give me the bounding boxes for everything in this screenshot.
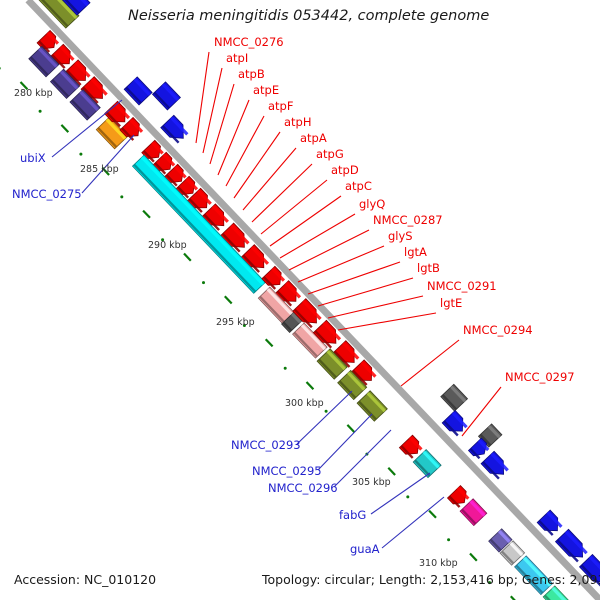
feature-blue-6[interactable] [442, 411, 466, 436]
scale-tick-major [184, 254, 191, 261]
scale-tick-major [61, 125, 68, 132]
scale-tick-major [429, 511, 436, 518]
leader-line-atpa [243, 148, 296, 210]
scale-label-310-kbp: 310 kbp [419, 558, 458, 569]
scale-label-285-kbp: 285 kbp [80, 164, 119, 175]
gene-label-nmcc_0297[interactable]: NMCC_0297 [505, 370, 575, 384]
gene-label-atpd[interactable]: atpD [331, 163, 359, 177]
gene-label-nmcc_0293[interactable]: NMCC_0293 [231, 438, 301, 452]
gene-label-nmcc_0295[interactable]: NMCC_0295 [252, 464, 322, 478]
scale-tick-minor [39, 110, 42, 113]
feature-purple-1[interactable] [29, 46, 59, 76]
gene-label-glys[interactable]: glyS [388, 229, 413, 243]
leader-line-lgte [338, 313, 436, 330]
gene-label-lgtb[interactable]: lgtB [417, 261, 440, 275]
gene-label-atpi[interactable]: atpI [226, 51, 248, 65]
gene-label-nmcc_0276[interactable]: NMCC_0276 [214, 35, 284, 49]
leader-line-nmcc_0276 [196, 52, 209, 143]
gene-label-nmcc_0275[interactable]: NMCC_0275 [12, 187, 82, 201]
leader-line-atpd [261, 180, 327, 234]
gene-label-atpb[interactable]: atpB [238, 67, 265, 81]
gene-label-atpe[interactable]: atpE [253, 83, 279, 97]
feature-olive-4[interactable] [357, 391, 387, 421]
gene-label-fabg[interactable]: fabG [339, 508, 366, 522]
scale-tick-major [307, 382, 314, 389]
gene-label-atpc[interactable]: atpC [345, 179, 372, 193]
page-title: Neisseria meningitidis 053442, complete … [128, 8, 489, 24]
leader-line-atpc [270, 196, 341, 246]
leader-line-atpe [218, 100, 249, 175]
scale-tick-minor [202, 281, 205, 284]
scale-tick-minor [406, 495, 409, 498]
scale-label-layer: 280 kbp285 kbp290 kbp295 kbp300 kbp305 k… [14, 88, 458, 569]
scale-label-280-kbp: 280 kbp [14, 88, 53, 99]
leader-line-atpi [203, 68, 222, 153]
feature-blue-4[interactable] [153, 82, 181, 110]
gene-label-atpa[interactable]: atpA [300, 131, 327, 145]
gene-label-nmcc_0296[interactable]: NMCC_0296 [268, 481, 338, 495]
accession-text: Accession: NC_010120 [14, 572, 156, 587]
scale-tick-major [511, 596, 518, 600]
leader-line-nmcc_0295 [318, 414, 372, 470]
gene-label-atpf[interactable]: atpF [268, 99, 293, 113]
leader-line-glyq [280, 214, 355, 258]
gene-label-atpg[interactable]: atpG [316, 147, 344, 161]
gene-label-nmcc_0294[interactable]: NMCC_0294 [463, 323, 533, 337]
scale-label-305-kbp: 305 kbp [352, 477, 391, 488]
leader-line-atpg [252, 164, 312, 222]
scale-tick-minor [120, 195, 123, 198]
feature-red-21[interactable] [399, 435, 421, 458]
scale-tick-minor [447, 538, 450, 541]
genome-axis-line [28, 0, 600, 600]
genome-map-viewer: NMCC_0276atpIatpBatpEatpFatpHatpAatpGatp… [0, 0, 600, 600]
gene-label-lgte[interactable]: lgtE [440, 296, 462, 310]
scale-tick-major [470, 554, 477, 561]
gene-label-glyq[interactable]: glyQ [359, 197, 385, 211]
scale-tick-minor [325, 410, 328, 413]
feature-red-22[interactable] [448, 486, 469, 508]
gene-label-ubix[interactable]: ubiX [20, 151, 46, 165]
feature-green-1[interactable] [543, 586, 581, 600]
gene-label-guaa[interactable]: guaA [350, 542, 380, 556]
scale-label-295-kbp: 295 kbp [216, 317, 255, 328]
gene-label-nmcc_0287[interactable]: NMCC_0287 [373, 213, 443, 227]
scale-tick-minor [284, 367, 287, 370]
leader-line-atpb [210, 84, 234, 164]
scale-tick-major [266, 339, 273, 346]
feature-gray-3[interactable] [441, 384, 468, 411]
scale-tick-minor [79, 153, 82, 156]
leader-line-nmcc_0287 [289, 230, 369, 270]
leader-line-lgta [308, 262, 400, 294]
scale-label-300-kbp: 300 kbp [285, 398, 324, 409]
scale-tick-major [143, 211, 150, 218]
gene-label-atph[interactable]: atpH [284, 115, 312, 129]
genome-axis-group [28, 0, 600, 600]
scale-label-290-kbp: 290 kbp [148, 240, 187, 251]
scale-tick-major [225, 296, 232, 303]
gene-label-lgta[interactable]: lgtA [404, 245, 427, 259]
feature-blue-9[interactable] [537, 510, 561, 535]
scale-tick-major [388, 468, 395, 475]
leader-line-glys [298, 246, 384, 282]
scale-tick-minor [0, 67, 1, 70]
leader-line-guaa [382, 497, 444, 548]
leader-line-atph [234, 132, 280, 198]
feature-cyan-atp-highlight [142, 157, 263, 284]
gene-label-nmcc_0291[interactable]: NMCC_0291 [427, 279, 497, 293]
leader-line-nmcc_0294 [401, 340, 459, 386]
scale-tick-major [347, 425, 354, 432]
genome-stats-text: Topology: circular; Length: 2,153,416 bp… [261, 572, 600, 587]
leader-line-atpf [226, 116, 264, 186]
genome-map-canvas: NMCC_0276atpIatpBatpEatpFatpHatpAatpGatp… [0, 0, 600, 600]
